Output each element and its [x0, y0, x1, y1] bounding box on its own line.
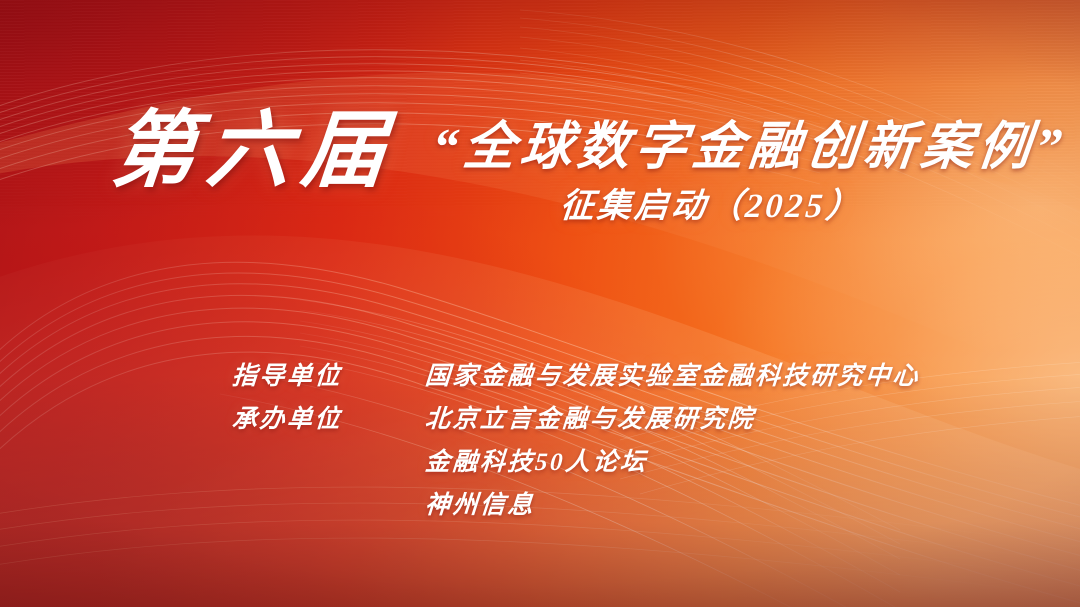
organization-label: 指导单位	[231, 362, 343, 392]
organization-row: 承办单位 北京立言金融与发展研究院	[0, 405, 1080, 448]
organization-value: 北京立言金融与发展研究院	[424, 405, 756, 435]
organization-label: 承办单位	[231, 405, 343, 435]
organization-value: 神州信息	[424, 491, 536, 521]
poster-subtitle: 征集启动（2025）	[559, 190, 865, 224]
organization-row: 指导单位 国家金融与发展实验室金融科技研究中心	[0, 362, 1080, 405]
edition-heading: 第六届	[108, 110, 400, 194]
organization-value: 金融科技50人论坛	[424, 448, 649, 478]
poster-title: “全球数字金融创新案例”	[429, 122, 1069, 174]
poster-canvas: 第六届 “全球数字金融创新案例” 征集启动（2025） 指导单位 国家金融与发展…	[0, 0, 1080, 607]
organization-value: 国家金融与发展实验室金融科技研究中心	[424, 362, 921, 392]
organization-row: 神州信息	[0, 491, 1080, 534]
organization-row: 金融科技50人论坛	[0, 448, 1080, 491]
organization-list: 指导单位 国家金融与发展实验室金融科技研究中心 承办单位 北京立言金融与发展研究…	[0, 362, 1080, 532]
